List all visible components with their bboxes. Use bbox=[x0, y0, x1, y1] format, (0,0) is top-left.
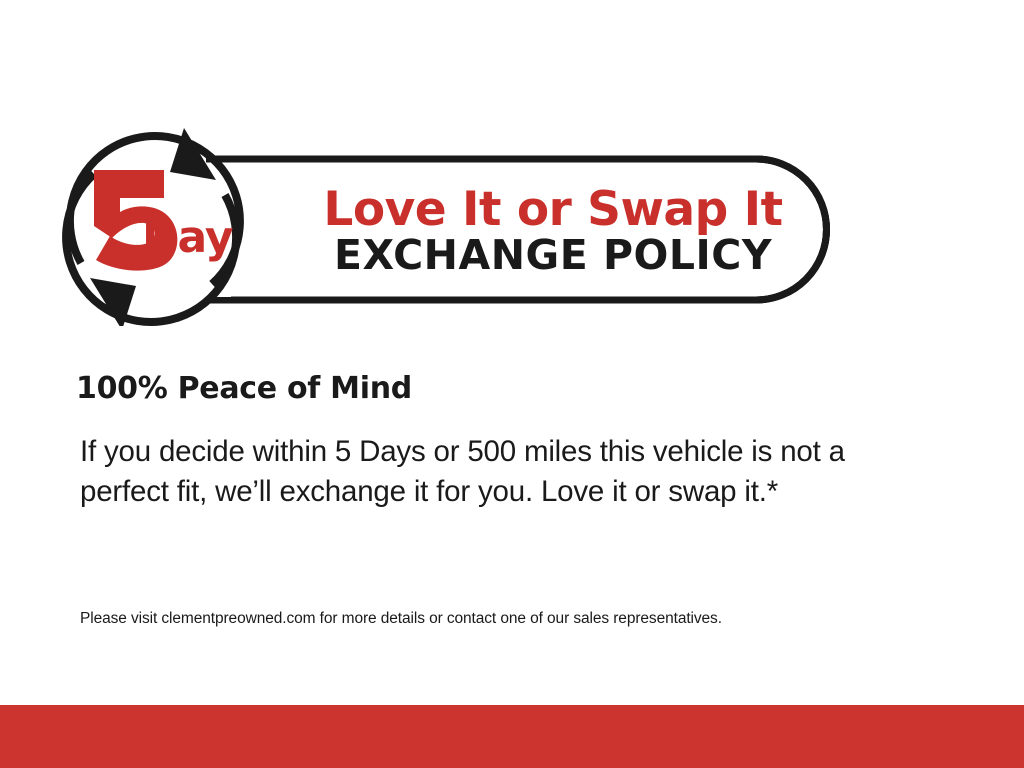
headline-peace-of-mind: 100% Peace of Mind bbox=[76, 372, 412, 405]
capsule-outline-visible bbox=[231, 159, 827, 300]
exchange-policy-badge: Day Love It or Swap It EXCHANGE POLICY bbox=[56, 126, 846, 326]
capsule-outline bbox=[206, 159, 827, 300]
fineprint-disclaimer: Please visit clementpreowned.com for mor… bbox=[80, 608, 910, 630]
capsule-outline-top bbox=[234, 159, 827, 300]
footer-accent-bar bbox=[0, 705, 1024, 768]
policy-description: If you decide within 5 Days or 500 miles… bbox=[80, 432, 870, 512]
badge-outline-graphic bbox=[56, 126, 846, 326]
policy-slide: Day Love It or Swap It EXCHANGE POLICY 1… bbox=[0, 0, 1024, 768]
